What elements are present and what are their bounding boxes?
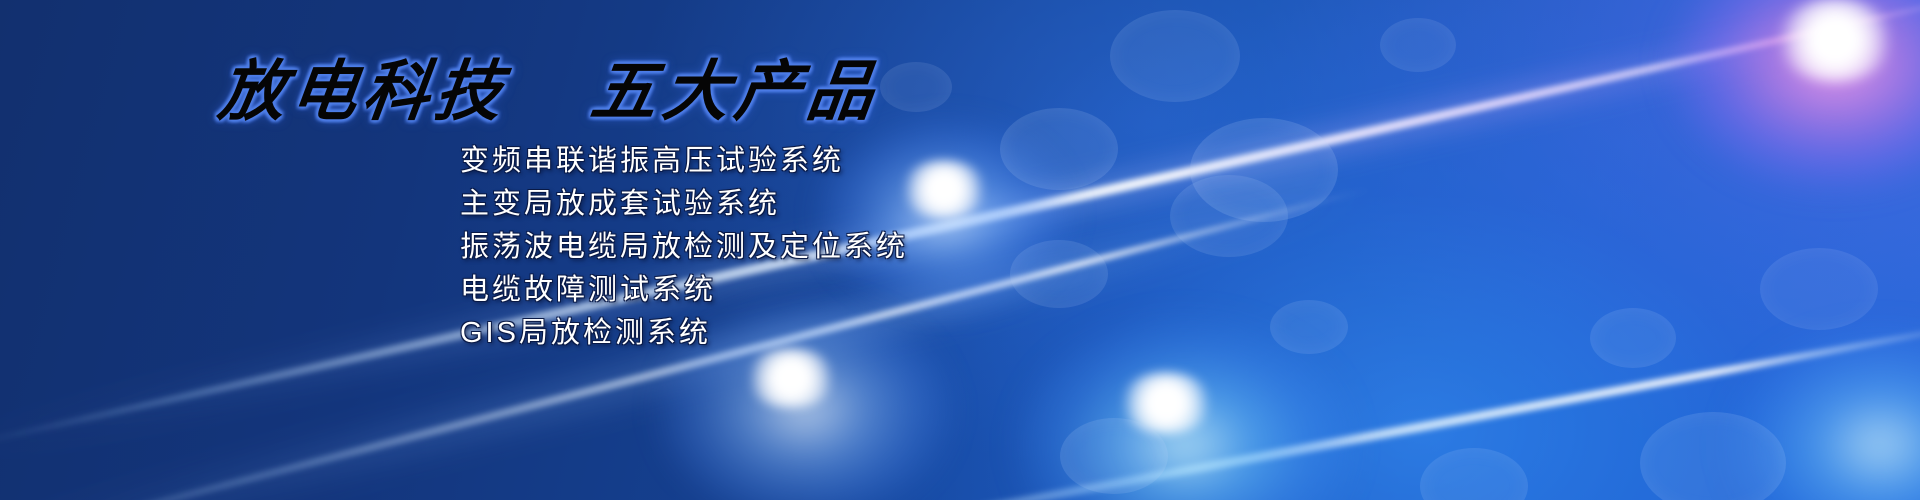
product-item: GIS局放检测系统: [460, 312, 908, 355]
banner-content: 放电科技 五大产品 变频串联谐振高压试验系统主变局放成套试验系统振荡波电缆局放检…: [0, 0, 1920, 500]
product-item: 电缆故障测试系统: [460, 269, 908, 312]
product-item: 振荡波电缆局放检测及定位系统: [460, 226, 908, 269]
product-list: 变频串联谐振高压试验系统主变局放成套试验系统振荡波电缆局放检测及定位系统电缆故障…: [460, 140, 908, 355]
banner-headline: 放电科技 五大产品: [0, 38, 1106, 134]
headline-part-1: 放电科技: [215, 52, 513, 130]
product-item: 主变局放成套试验系统: [460, 183, 908, 226]
headline-part-2: 五大产品: [587, 52, 885, 130]
promo-banner: 放电科技 五大产品 变频串联谐振高压试验系统主变局放成套试验系统振荡波电缆局放检…: [0, 0, 1920, 500]
product-item: 变频串联谐振高压试验系统: [460, 140, 908, 183]
